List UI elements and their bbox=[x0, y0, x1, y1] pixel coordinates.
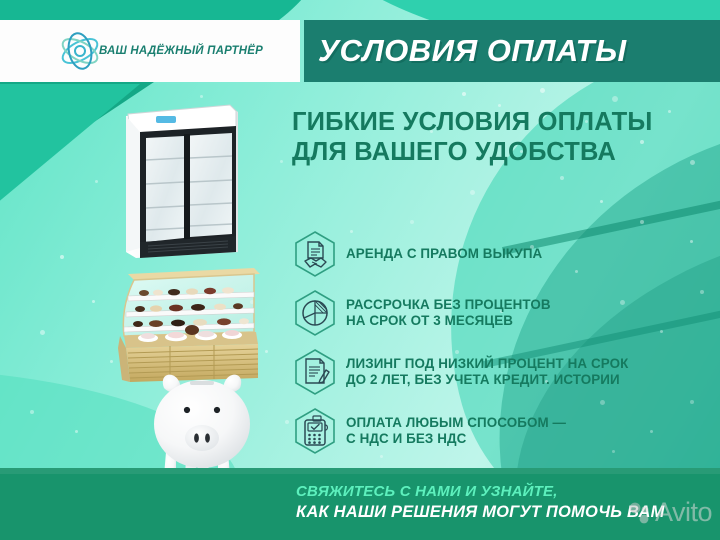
document-handshake-icon bbox=[292, 230, 338, 278]
feature-label: РАССРОЧКА БЕЗ ПРОЦЕНТОВ НА СРОК ОТ 3 МЕС… bbox=[346, 297, 551, 330]
page-title: УСЛОВИЯ ОПЛАТЫ bbox=[318, 33, 627, 69]
logo-text: ВАШ НАДЁЖНЫЙ ПАРТНЁР bbox=[99, 45, 263, 57]
feature-item-leasing: ЛИЗИНГ ПОД НИЗКИЙ ПРОЦЕНТ НА СРОК ДО 2 Л… bbox=[292, 348, 692, 396]
avito-watermark: Avito bbox=[628, 497, 712, 528]
atom-orbit-icon bbox=[57, 28, 103, 74]
footer-bar: СВЯЖИТЕСЬ С НАМИ И УЗНАЙТЕ, КАК НАШИ РЕШ… bbox=[0, 468, 720, 540]
footer-top-highlight bbox=[0, 468, 720, 474]
feature-list: АРЕНДА С ПРАВОМ ВЫКУПА РАССРОЧКА БЕЗ ПРО… bbox=[292, 230, 692, 466]
feature-item-payment-methods: ОПЛАТА ЛЮБЫМ СПОСОБОМ — С НДС И БЕЗ НДС bbox=[292, 407, 692, 455]
feature-item-installments: РАССРОЧКА БЕЗ ПРОЦЕНТОВ НА СРОК ОТ 3 МЕС… bbox=[292, 289, 692, 337]
headline: ГИБКИЕ УСЛОВИЯ ОПЛАТЫ ДЛЯ ВАШЕГО УДОБСТВ… bbox=[292, 108, 702, 168]
title-band: УСЛОВИЯ ОПЛАТЫ bbox=[304, 20, 720, 82]
banner-header: ВАШ НАДЁЖНЫЙ ПАРТНЁР УСЛОВИЯ ОПЛАТЫ bbox=[0, 20, 720, 82]
pie-chart-icon bbox=[292, 289, 338, 337]
feature-label: АРЕНДА С ПРАВОМ ВЫКУПА bbox=[346, 246, 542, 262]
logo-box: ВАШ НАДЁЖНЫЙ ПАРТНЁР bbox=[0, 20, 300, 82]
pos-terminal-icon bbox=[292, 407, 338, 455]
contract-pen-icon bbox=[292, 348, 338, 396]
promo-banner: ВАШ НАДЁЖНЫЙ ПАРТНЁР УСЛОВИЯ ОПЛАТЫ ГИБК… bbox=[0, 0, 720, 540]
avito-wordmark: Avito bbox=[655, 497, 712, 528]
feature-item-rent-to-own: АРЕНДА С ПРАВОМ ВЫКУПА bbox=[292, 230, 692, 278]
feature-label: ОПЛАТА ЛЮБЫМ СПОСОБОМ — С НДС И БЕЗ НДС bbox=[346, 415, 566, 448]
feature-label: ЛИЗИНГ ПОД НИЗКИЙ ПРОЦЕНТ НА СРОК ДО 2 Л… bbox=[346, 356, 628, 389]
avito-logo-icon bbox=[628, 502, 650, 524]
glass-door-refrigerator-image bbox=[118, 92, 246, 262]
